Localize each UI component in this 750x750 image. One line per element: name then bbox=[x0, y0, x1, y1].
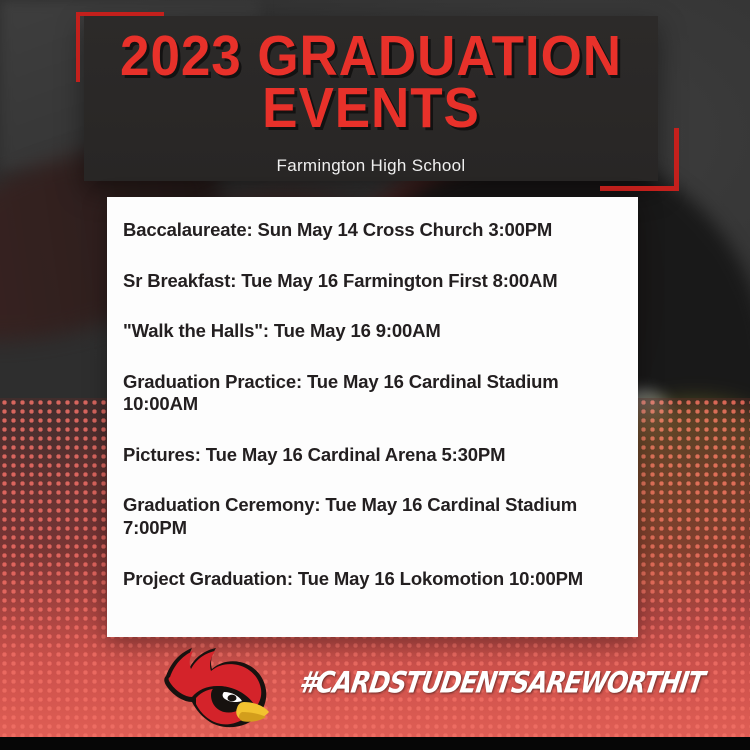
event-item: Pictures: Tue May 16 Cardinal Arena 5:30… bbox=[123, 444, 620, 467]
poster-title: 2023 GRADUATION EVENTS bbox=[84, 30, 658, 135]
event-item: Graduation Ceremony: Tue May 16 Cardinal… bbox=[123, 494, 620, 539]
school-subtitle: Farmington High School bbox=[84, 156, 658, 176]
event-item: Project Graduation: Tue May 16 Lokomotio… bbox=[123, 568, 620, 591]
event-item: Graduation Practice: Tue May 16 Cardinal… bbox=[123, 371, 620, 416]
title-line-1: 2023 GRADUATION bbox=[104, 30, 638, 82]
header-panel: 2023 GRADUATION EVENTS Farmington High S… bbox=[84, 16, 658, 181]
events-list-card: Baccalaureate: Sun May 14 Cross Church 3… bbox=[107, 197, 638, 637]
hashtag-text: #CARDSTUDENTSAREWORTHIT bbox=[297, 665, 662, 699]
bottom-black-strip bbox=[0, 737, 750, 750]
graduation-events-poster: 2023 GRADUATION EVENTS Farmington High S… bbox=[0, 0, 750, 750]
cardinal-mascot-logo-icon bbox=[148, 642, 273, 742]
event-item: Sr Breakfast: Tue May 16 Farmington Firs… bbox=[123, 270, 620, 293]
footer-band: #CARDSTUDENTSAREWORTHIT bbox=[0, 640, 750, 737]
title-line-2: EVENTS bbox=[104, 82, 638, 134]
event-item: "Walk the Halls": Tue May 16 9:00AM bbox=[123, 320, 620, 343]
event-item: Baccalaureate: Sun May 14 Cross Church 3… bbox=[123, 219, 620, 242]
